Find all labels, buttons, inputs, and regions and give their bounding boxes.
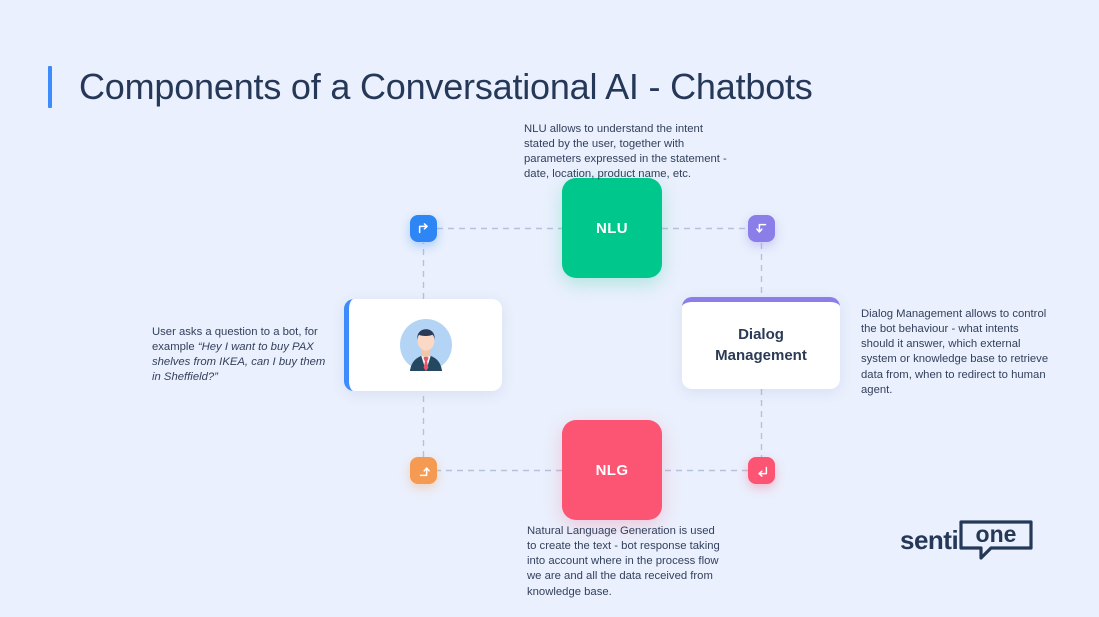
node-dialog-label-line2: Management	[715, 346, 807, 366]
arrow-turn-down-icon	[755, 222, 769, 236]
svg-text:one: one	[976, 521, 1017, 547]
badge-arrow-turn-down[interactable]	[748, 215, 775, 242]
avatar	[400, 319, 452, 371]
note-user-question: User asks a question to a bot, for examp…	[152, 325, 332, 386]
node-dialog-label-line1: Dialog	[715, 325, 807, 345]
note-nlg: Natural Language Generation is used to c…	[527, 524, 727, 600]
arrow-turn-up-icon	[417, 464, 431, 478]
node-dialog-label: Dialog Management	[715, 325, 807, 366]
note-nlu: NLU allows to understand the intent stat…	[524, 122, 729, 183]
node-user[interactable]	[344, 299, 502, 391]
arrow-turn-right-icon	[417, 222, 431, 236]
badge-arrow-turn-up[interactable]	[410, 457, 437, 484]
node-dialog-management[interactable]: Dialog Management	[682, 297, 840, 389]
node-nlg[interactable]: NLG	[562, 420, 662, 520]
sentione-logo: senti one	[900, 518, 1036, 562]
arrow-turn-left-icon	[755, 464, 769, 478]
node-nlu-label: NLU	[596, 220, 628, 237]
note-dialog-management: Dialog Management allows to control the …	[861, 307, 1051, 398]
badge-arrow-turn-right[interactable]	[410, 215, 437, 242]
logo-speech-bubble-icon: one	[958, 518, 1036, 562]
badge-arrow-turn-left[interactable]	[748, 457, 775, 484]
node-nlu[interactable]: NLU	[562, 178, 662, 278]
logo-text-senti: senti	[900, 525, 958, 556]
node-nlg-label: NLG	[596, 462, 629, 479]
